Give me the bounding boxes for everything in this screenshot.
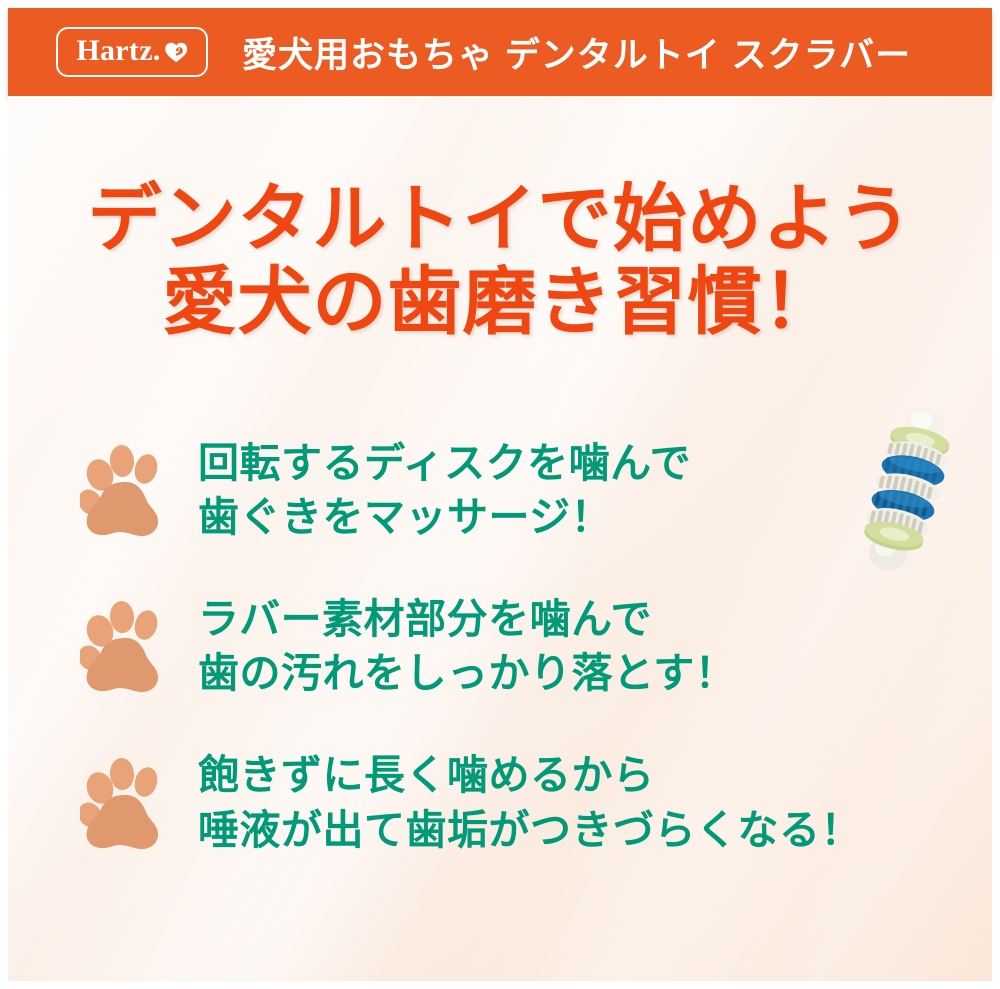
- feature-item-1: 回転するディスクを噛んで 歯ぐきをマッサージ！: [8, 436, 992, 544]
- feature-3-line-2: 唾液が出て歯垢がつきづらくなる！: [198, 803, 862, 857]
- header-banner: Hartz. 愛犬用おもちゃ デンタルトイ スクラバー: [8, 8, 992, 96]
- promo-banner-page: Hartz. 愛犬用おもちゃ デンタルトイ スクラバー デンタルトイで始めよう …: [0, 0, 1000, 989]
- hartz-logo: Hartz.: [56, 27, 208, 77]
- feature-text-1: 回転するディスクを噛んで 歯ぐきをマッサージ！: [198, 436, 691, 544]
- feature-1-line-2: 歯ぐきをマッサージ！: [198, 490, 691, 544]
- feature-list: 回転するディスクを噛んで 歯ぐきをマッサージ！ ラバー素材部分を噛んで: [8, 436, 992, 905]
- paw-print-icon: [80, 442, 172, 538]
- feature-text-3: 飽きずに長く噛めるから 唾液が出て歯垢がつきづらくなる！: [198, 748, 862, 856]
- hartz-wordmark-text: Hartz: [76, 34, 152, 67]
- feature-2-line-2: 歯の汚れをしっかり落とす！: [198, 646, 736, 700]
- banner-title: 愛犬用おもちゃ デンタルトイ スクラバー: [242, 27, 911, 78]
- headline-line-1: デンタルトイで始めよう: [88, 177, 913, 260]
- feature-2-line-1: ラバー素材部分を噛んで: [198, 592, 736, 646]
- paw-print-icon: [80, 598, 172, 694]
- feature-item-3: 飽きずに長く噛めるから 唾液が出て歯垢がつきづらくなる！: [8, 748, 992, 856]
- hartz-wordmark: Hartz.: [76, 36, 187, 66]
- feature-text-2: ラバー素材部分を噛んで 歯の汚れをしっかり落とす！: [198, 592, 736, 700]
- feature-3-line-1: 飽きずに長く噛めるから: [198, 748, 862, 802]
- feature-item-2: ラバー素材部分を噛んで 歯の汚れをしっかり落とす！: [8, 592, 992, 700]
- promo-body: デンタルトイで始めよう 愛犬の歯磨き習慣！: [8, 96, 992, 981]
- hartz-heart-dog-icon: [164, 39, 188, 61]
- feature-1-line-1: 回転するディスクを噛んで: [198, 436, 691, 490]
- hartz-wordmark-period: .: [153, 34, 161, 67]
- paw-print-icon: [80, 755, 172, 851]
- page-title: デンタルトイで始めよう 愛犬の歯磨き習慣！: [8, 178, 992, 344]
- product-image-dental-toy: [853, 396, 963, 581]
- headline-line-2: 愛犬の歯磨き習慣！: [8, 261, 992, 344]
